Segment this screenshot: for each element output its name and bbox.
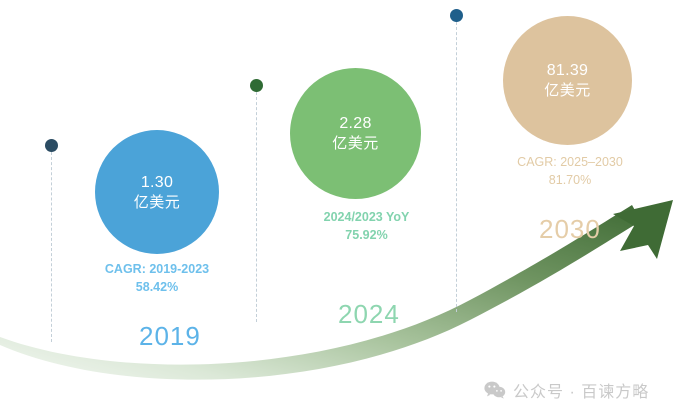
year-label-2024: 2024 <box>338 299 400 330</box>
guide-line-2024 <box>256 92 257 322</box>
guide-line-2030 <box>456 22 457 312</box>
bubble-2019[interactable]: 1.30 亿美元 <box>95 130 219 254</box>
caption-2024-line2: 75.92% <box>294 226 439 244</box>
bubble-unit-2019: 亿美元 <box>134 193 181 213</box>
pin-marker-2030 <box>450 9 463 22</box>
bubble-2030[interactable]: 81.39 亿美元 <box>503 16 632 145</box>
pin-marker-2024 <box>250 79 263 92</box>
caption-2030-line1: CAGR: 2025–2030 <box>495 153 645 171</box>
caption-2019-line1: CAGR: 2019-2023 <box>82 260 232 278</box>
pin-marker-2019 <box>45 139 58 152</box>
watermark: 公众号 · 百谏方略 <box>484 378 649 402</box>
caption-2019: CAGR: 2019-2023 58.42% <box>82 260 232 296</box>
caption-2024-line1: 2024/2023 YoY <box>294 208 439 226</box>
bubble-value-2030: 81.39 <box>547 60 589 81</box>
year-label-2030: 2030 <box>539 214 601 245</box>
caption-2019-line2: 58.42% <box>82 278 232 296</box>
watermark-text: 公众号 · 百谏方略 <box>513 378 649 402</box>
caption-2030-line2: 81.70% <box>495 171 645 189</box>
infographic-canvas: 1.30 亿美元 CAGR: 2019-2023 58.42% 2019 2.2… <box>0 0 683 416</box>
guide-line-2019 <box>51 152 52 342</box>
bubble-unit-2030: 亿美元 <box>544 81 591 101</box>
wechat-icon <box>484 381 506 399</box>
caption-2030: CAGR: 2025–2030 81.70% <box>495 153 645 189</box>
bubble-value-2019: 1.30 <box>141 172 173 193</box>
bubble-unit-2024: 亿美元 <box>332 134 379 154</box>
bubble-2024[interactable]: 2.28 亿美元 <box>290 68 421 199</box>
caption-2024: 2024/2023 YoY 75.92% <box>294 208 439 244</box>
bubble-value-2024: 2.28 <box>339 113 371 134</box>
year-label-2019: 2019 <box>139 321 201 352</box>
